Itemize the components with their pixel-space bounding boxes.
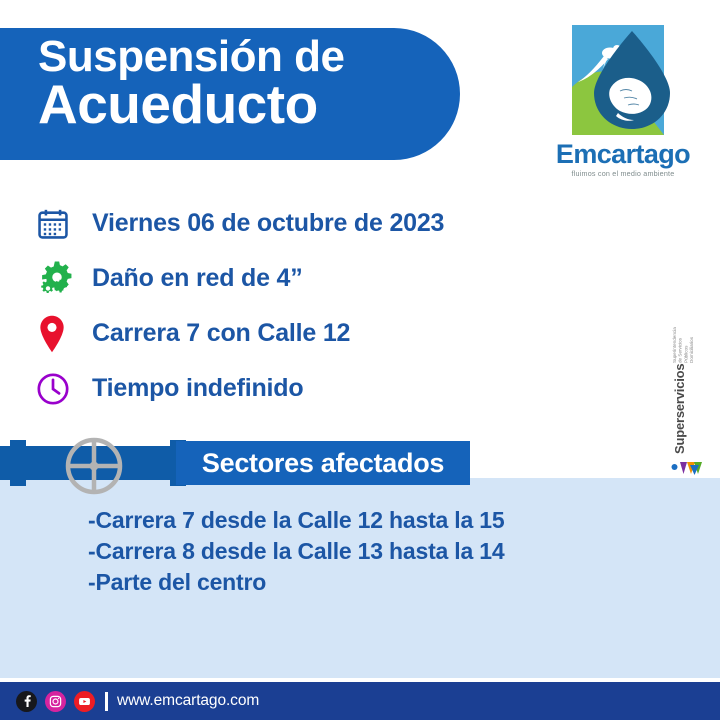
page-title-line1: Suspensión de xyxy=(38,36,458,78)
suspension-notice-poster: Suspensión de Acueducto xyxy=(0,0,720,720)
info-date-text: Viernes 06 de octubre de 2023 xyxy=(92,209,444,238)
clock-icon xyxy=(36,372,92,406)
info-duration-text: Tiempo indefinido xyxy=(92,374,303,403)
valve-wheel-icon xyxy=(62,434,126,498)
sector-list: -Carrera 7 desde la Calle 12 hasta la 15… xyxy=(88,505,648,598)
superservicios-colored-mark xyxy=(670,458,708,478)
footer-website-url[interactable]: www.emcartago.com xyxy=(117,692,259,710)
emcartago-logo: Emcartago fluimos con el medio ambiente xyxy=(553,25,693,185)
info-location-text: Carrera 7 con Calle 12 xyxy=(92,319,350,348)
page-title-line2: Acueducto xyxy=(38,78,458,131)
footer-bar: www.emcartago.com xyxy=(0,682,720,720)
page-title: Suspensión de Acueducto xyxy=(38,36,458,131)
location-pin-icon xyxy=(36,315,92,353)
info-list: Viernes 06 de octubre de 2023 Daño en re… xyxy=(36,196,636,416)
info-cause-text: Daño en red de 4” xyxy=(92,264,303,293)
superservicios-vertical-text: Superservicios Superintendencia de Servi… xyxy=(672,368,695,454)
instagram-icon[interactable] xyxy=(45,691,66,712)
calendar-icon xyxy=(36,207,92,241)
list-item: -Parte del centro xyxy=(88,567,648,598)
sectors-banner-title: Sectores afectados xyxy=(202,448,444,479)
info-row-location: Carrera 7 con Calle 12 xyxy=(36,306,636,361)
gears-icon xyxy=(36,258,92,300)
list-item: -Carrera 7 desde la Calle 12 hasta la 15 xyxy=(88,505,648,536)
info-row-duration: Tiempo indefinido xyxy=(36,361,636,416)
sectors-banner: Sectores afectados xyxy=(176,441,470,485)
list-item: -Carrera 8 desde la Calle 13 hasta la 14 xyxy=(88,536,648,567)
info-row-cause: Daño en red de 4” xyxy=(36,251,636,306)
emcartago-logo-tagline: fluimos con el medio ambiente xyxy=(553,169,693,178)
facebook-icon[interactable] xyxy=(16,691,37,712)
youtube-icon[interactable] xyxy=(74,691,95,712)
info-row-date: Viernes 06 de octubre de 2023 xyxy=(36,196,636,251)
superservicios-subtitle: Superintendencia de Servicios Públicos D… xyxy=(672,327,695,363)
emcartago-waterdrop-logo xyxy=(558,25,688,143)
pipe-collar-left xyxy=(10,440,26,486)
emcartago-logo-name: Emcartago xyxy=(553,141,693,168)
footer-separator xyxy=(105,692,108,711)
superservicios-logo: Superservicios Superintendencia de Servi… xyxy=(660,368,716,480)
superservicios-name: Superservicios xyxy=(672,364,687,454)
